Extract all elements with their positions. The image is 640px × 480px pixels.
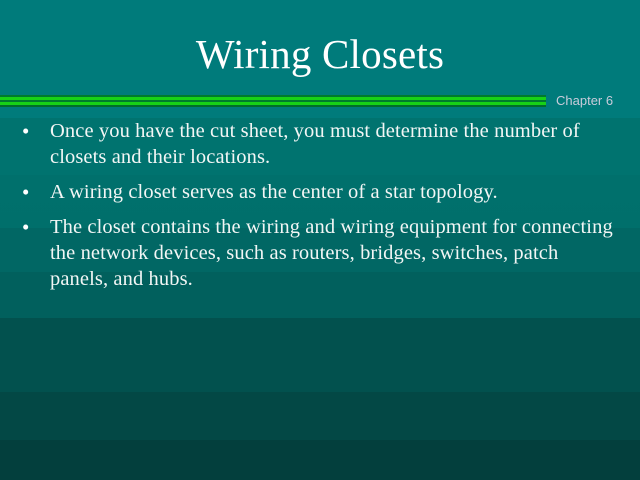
bullet-point-icon: •: [22, 118, 29, 144]
bullet-item: • The closet contains the wiring and wir…: [0, 214, 640, 292]
bullet-text: The closet contains the wiring and wirin…: [50, 216, 613, 290]
title-divider-rule: [0, 95, 546, 107]
bullet-point-icon: •: [22, 179, 29, 205]
bullet-item: • Once you have the cut sheet, you must …: [0, 118, 640, 170]
presentation-slide: Wiring Closets Chapter 6 • Once you have…: [0, 0, 640, 480]
title-block: Wiring Closets: [0, 30, 640, 78]
bullet-text: A wiring closet serves as the center of …: [50, 181, 498, 203]
bullet-point-icon: •: [22, 214, 29, 240]
slide-title: Wiring Closets: [0, 30, 640, 78]
bullet-text: Once you have the cut sheet, you must de…: [50, 120, 580, 168]
divider-band-dark-bottom: [0, 105, 546, 107]
bullet-list: • Once you have the cut sheet, you must …: [0, 118, 640, 301]
bullet-item: • A wiring closet serves as the center o…: [0, 179, 640, 205]
chapter-label: Chapter 6: [556, 93, 613, 109]
